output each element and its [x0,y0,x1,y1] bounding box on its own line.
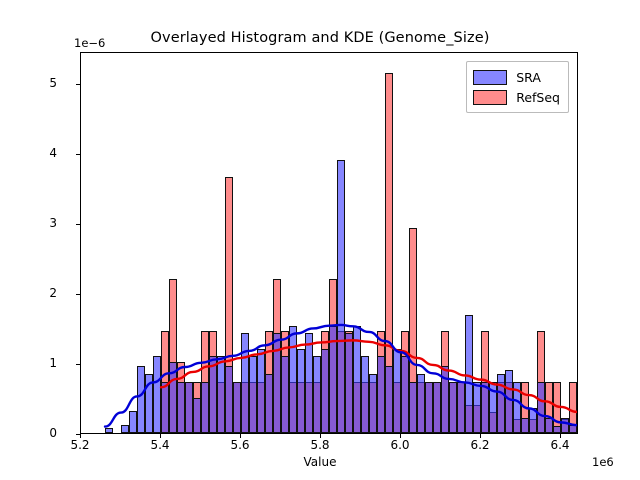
y-axis-tick-label: 2 [31,286,57,300]
legend-item-refseq: RefSeq [473,87,560,107]
y-axis-tick-mark [76,294,80,295]
x-axis-label: Value [0,455,640,469]
y-axis-tick-mark [76,364,80,365]
x-axis-tick-mark [80,434,81,438]
y-axis-tick-label: 1 [31,356,57,370]
histogram-bar [577,427,578,433]
histogram-bar [577,419,578,433]
y-axis-tick-mark [76,84,80,85]
y-axis-tick-label: 0 [31,426,57,440]
x-axis-tick-label: 5.6 [220,438,260,452]
plot-area: SRA RefSeq [80,52,578,434]
y-axis-tick-label: 4 [31,146,57,160]
x-axis-tick-mark [160,434,161,438]
legend-label-sra: SRA [516,70,541,85]
x-axis-tick-label: 5.2 [60,438,100,452]
y-axis-tick-mark [76,154,80,155]
x-axis-tick-label: 5.4 [140,438,180,452]
x-axis-tick-mark [560,434,561,438]
y-axis-tick-mark [76,224,80,225]
y-axis-tick-label: 3 [31,216,57,230]
kde-line-refseq [161,340,578,419]
x-axis-tick-mark [320,434,321,438]
x-axis-tick-mark [240,434,241,438]
legend-swatch-refseq-icon [473,90,507,105]
x-axis-tick-label: 6.0 [380,438,420,452]
y-axis-tick-label: 5 [31,76,57,90]
legend-label-refseq: RefSeq [516,90,560,105]
y-axis-offset-text: 1e−6 [74,36,105,50]
x-axis-tick-label: 6.4 [540,438,580,452]
legend: SRA RefSeq [466,61,569,113]
x-axis-tick-label: 5.8 [300,438,340,452]
x-axis-tick-mark [480,434,481,438]
legend-swatch-sra-icon [473,70,507,85]
x-axis-tick-label: 6.2 [460,438,500,452]
figure-canvas: Overlayed Histogram and KDE (Genome_Size… [0,0,640,480]
legend-item-sra: SRA [473,67,560,87]
x-axis-tick-mark [400,434,401,438]
